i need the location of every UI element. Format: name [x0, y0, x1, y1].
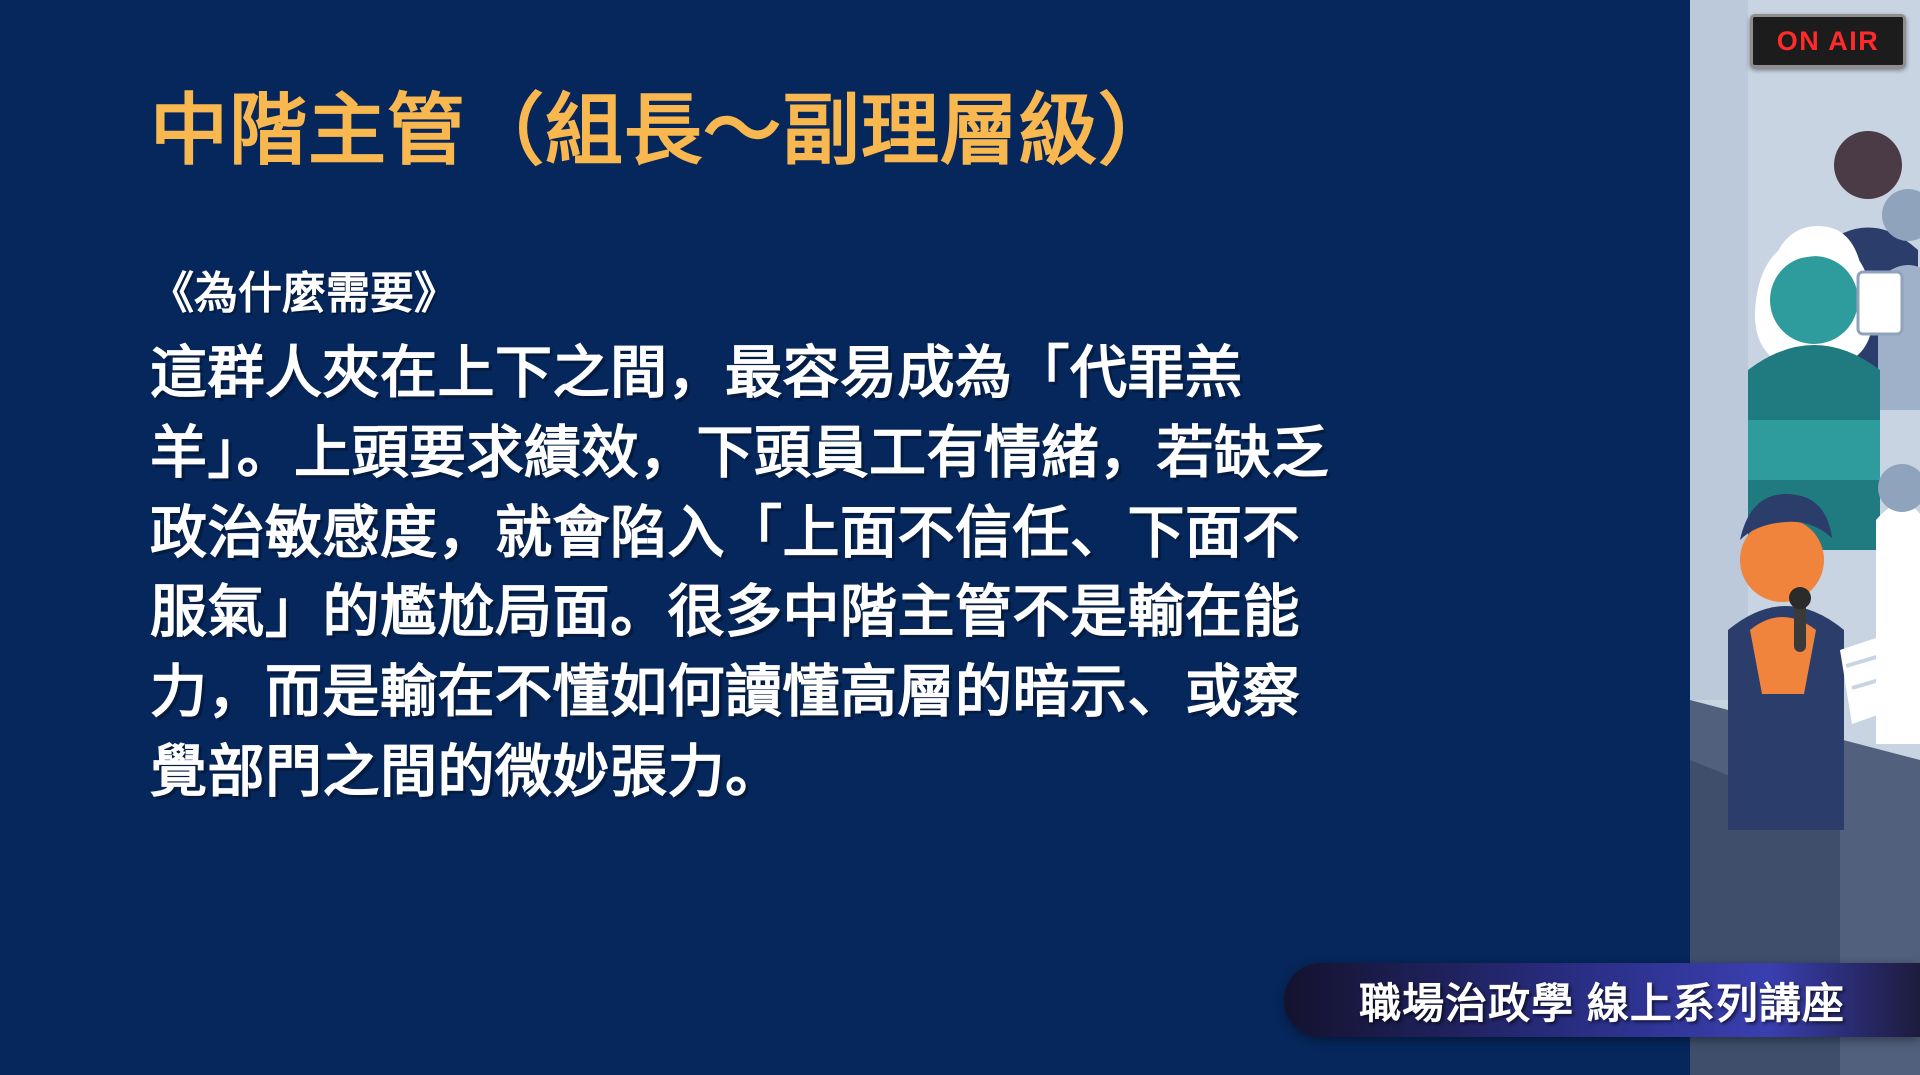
footer-brand-label: 職場治政學 線上系列講座: [1359, 970, 1845, 1031]
body-subheading: 《為什麼需要》: [150, 268, 1570, 320]
slide-content-panel: 中階主管（組長～副理層級） 《為什麼需要》 這群人夾在上下之間，最容易成為「代罪…: [0, 0, 1690, 1075]
body-paragraph-line: 羊」。上頭要求績效，下頭員工有情緒，若缺乏: [150, 414, 1570, 494]
body-paragraph-line: 政治敏感度，就會陷入「上面不信任、下面不: [150, 494, 1570, 574]
presentation-slide: 中階主管（組長～副理層級） 《為什麼需要》 這群人夾在上下之間，最容易成為「代罪…: [0, 0, 1920, 1075]
footer-brand-bar: 職場治政學 線上系列講座: [1284, 963, 1920, 1037]
body-paragraph-line: 這群人夾在上下之間，最容易成為「代罪羔: [150, 334, 1570, 414]
body-paragraph-line: 服氣」的尷尬局面。很多中階主管不是輸在能: [150, 573, 1570, 653]
on-air-label: ON AIR: [1777, 26, 1880, 57]
on-air-badge: ON AIR: [1750, 14, 1906, 68]
slide-title: 中階主管（組長～副理層級）: [150, 88, 1177, 174]
illustration-graphic: [1690, 0, 1920, 1075]
body-paragraph-line: 力，而是輸在不懂如何讀懂高層的暗示、或察: [150, 653, 1570, 733]
slide-body: 《為什麼需要》 這群人夾在上下之間，最容易成為「代罪羔 羊」。上頭要求績效，下頭…: [150, 268, 1570, 813]
audience-listeners-illustration: [1690, 0, 1920, 1075]
body-paragraph-line: 覺部門之間的微妙張力。: [150, 733, 1570, 813]
